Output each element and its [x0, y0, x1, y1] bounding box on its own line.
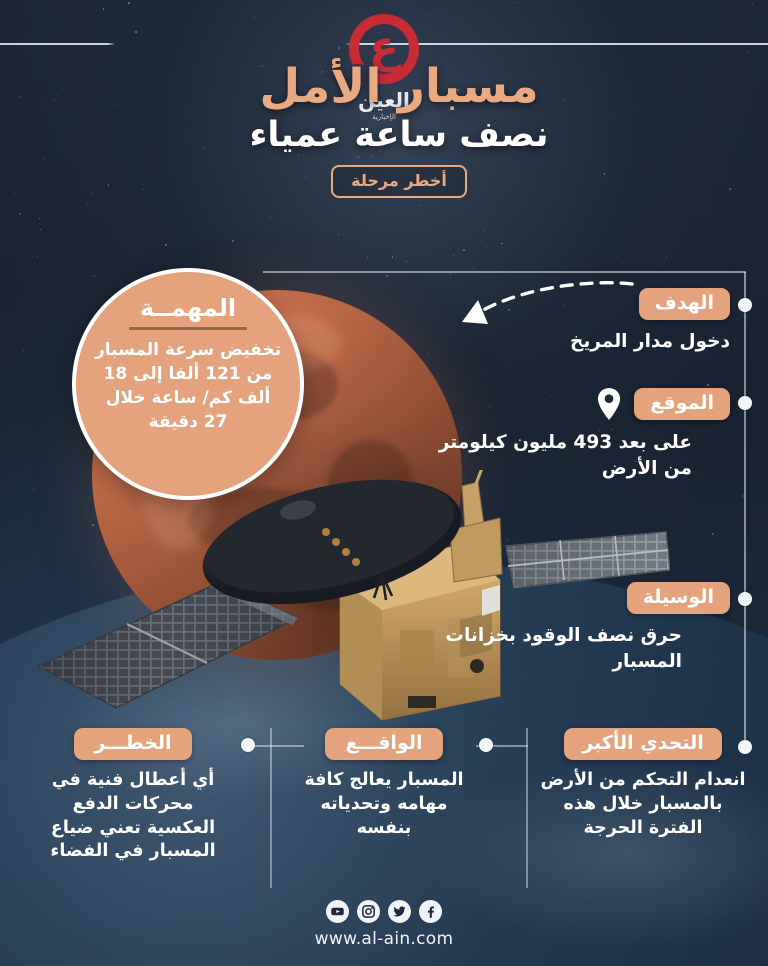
section-goal-text: دخول مدار المريخ — [432, 329, 730, 355]
title-block: مسبار الأمل نصف ساعة عمياء أخطر مرحلة — [0, 62, 768, 198]
bottom-divider-line — [270, 728, 272, 888]
timeline-dot — [738, 298, 752, 312]
website-url[interactable]: www.al-ain.com — [0, 929, 768, 949]
timeline-vertical-line — [744, 272, 746, 747]
section-method-badge: الوسيلة — [627, 582, 730, 614]
facebook-icon[interactable] — [419, 900, 442, 923]
section-challenge-text: انعدام التحكم من الأرض بالمسبار خلال هذه… — [540, 769, 746, 840]
section-goal-badge: الهدف — [639, 288, 730, 320]
mission-underline — [129, 327, 247, 330]
bottom-divider-line — [526, 728, 528, 888]
mission-label: المهمــة — [140, 294, 236, 322]
section-challenge: التحدي الأكبر انعدام التحكم من الأرض بال… — [540, 728, 746, 840]
section-method: الوسيلة حرق نصف الوقود بخزانات المسبار — [432, 582, 732, 674]
twitter-icon[interactable] — [388, 900, 411, 923]
section-danger-text: أي أعطال فنية في محركات الدفع العكسية تع… — [30, 769, 236, 864]
stage-badge: أخطر مرحلة — [331, 165, 467, 198]
map-pin-icon — [596, 387, 622, 421]
section-reality: الواقـــع المسبار يعالج كافة مهامه وتحدي… — [281, 728, 487, 840]
section-danger-badge: الخطـــر — [74, 728, 192, 760]
section-goal: الهدف دخول مدار المريخ — [432, 288, 732, 355]
section-reality-badge: الواقـــع — [325, 728, 443, 760]
section-location: الموقع على بعد 493 مليون كيلومتر من الأر… — [432, 387, 732, 481]
timeline-dot — [738, 592, 752, 606]
infographic-canvas: ع العين الإخبارية مسبار الأمل نصف ساعة ع… — [0, 0, 768, 966]
page-title: مسبار الأمل — [30, 62, 768, 113]
mission-circle: المهمــة تخفيض سرعة المسبار من 121 ألفا … — [72, 268, 304, 500]
section-location-badge: الموقع — [634, 388, 730, 420]
timeline-dot — [738, 396, 752, 410]
instagram-icon[interactable] — [357, 900, 380, 923]
section-challenge-badge: التحدي الأكبر — [564, 728, 722, 760]
mission-text: تخفيض سرعة المسبار من 121 ألفا إلى 18 أل… — [92, 338, 284, 435]
bottom-row: التحدي الأكبر انعدام التحكم من الأرض بال… — [0, 728, 768, 898]
section-method-text: حرق نصف الوقود بخزانات المسبار — [432, 623, 682, 674]
footer: www.al-ain.com — [0, 900, 768, 949]
page-subtitle: نصف ساعة عمياء — [30, 115, 768, 155]
social-links — [0, 900, 768, 923]
section-reality-text: المسبار يعالج كافة مهامه وتحدياته بنفسه — [281, 769, 487, 840]
section-danger: الخطـــر أي أعطال فنية في محركات الدفع ا… — [30, 728, 236, 864]
youtube-icon[interactable] — [326, 900, 349, 923]
timeline-top-connector — [263, 271, 746, 273]
section-location-text: على بعد 493 مليون كيلومتر من الأرض — [432, 430, 692, 481]
bottom-dot — [241, 738, 255, 752]
